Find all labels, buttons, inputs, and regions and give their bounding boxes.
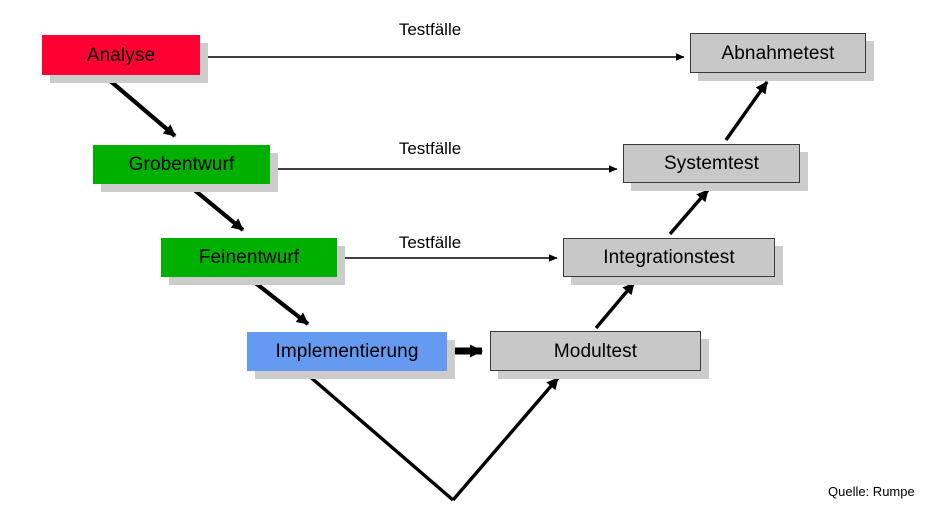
node-feinentwurf-label: Feinentwurf	[199, 248, 299, 267]
node-feinentwurf[interactable]: Feinentwurf	[161, 238, 337, 277]
edge-implementierung-base	[308, 375, 453, 500]
edge-analyse-to-grobentwurf	[108, 79, 175, 136]
node-abnahmetest[interactable]: Abnahmetest	[690, 33, 866, 73]
node-integrationstest-label: Integrationstest	[603, 248, 735, 267]
edge-systemtest-to-abnahmetest	[726, 82, 767, 140]
node-grobentwurf[interactable]: Grobentwurf	[93, 145, 270, 184]
node-analyse[interactable]: Analyse	[42, 35, 200, 75]
node-analyse-label: Analyse	[87, 46, 155, 65]
edge-grobentwurf-to-feinentwurf	[192, 188, 243, 230]
edge-feinentwurf-to-implementierung	[253, 281, 308, 324]
descent-edges	[108, 79, 308, 324]
node-modultest-label: Modultest	[554, 342, 637, 361]
node-implementierung-label: Implementierung	[275, 342, 418, 361]
edge-integrationstest-to-systemtest	[670, 190, 708, 234]
v-model-diagram: Analyse Grobentwurf Feinentwurf Implemen…	[0, 0, 951, 517]
node-systemtest[interactable]: Systemtest	[623, 144, 800, 183]
edge-label-testfaelle-2: Testfälle	[399, 139, 461, 159]
node-modultest[interactable]: Modultest	[490, 331, 701, 371]
edge-label-testfaelle-3: Testfälle	[399, 233, 461, 253]
source-note: Quelle: Rumpe	[828, 484, 915, 499]
edge-modultest-to-integrationstest	[596, 283, 634, 328]
node-systemtest-label: Systemtest	[664, 154, 759, 173]
edge-label-testfaelle-1: Testfälle	[399, 20, 461, 40]
node-implementierung[interactable]: Implementierung	[247, 332, 447, 371]
edge-base-to-modultest	[453, 378, 558, 500]
node-abnahmetest-label: Abnahmetest	[721, 44, 834, 63]
node-integrationstest[interactable]: Integrationstest	[563, 238, 775, 277]
node-grobentwurf-label: Grobentwurf	[129, 155, 235, 174]
